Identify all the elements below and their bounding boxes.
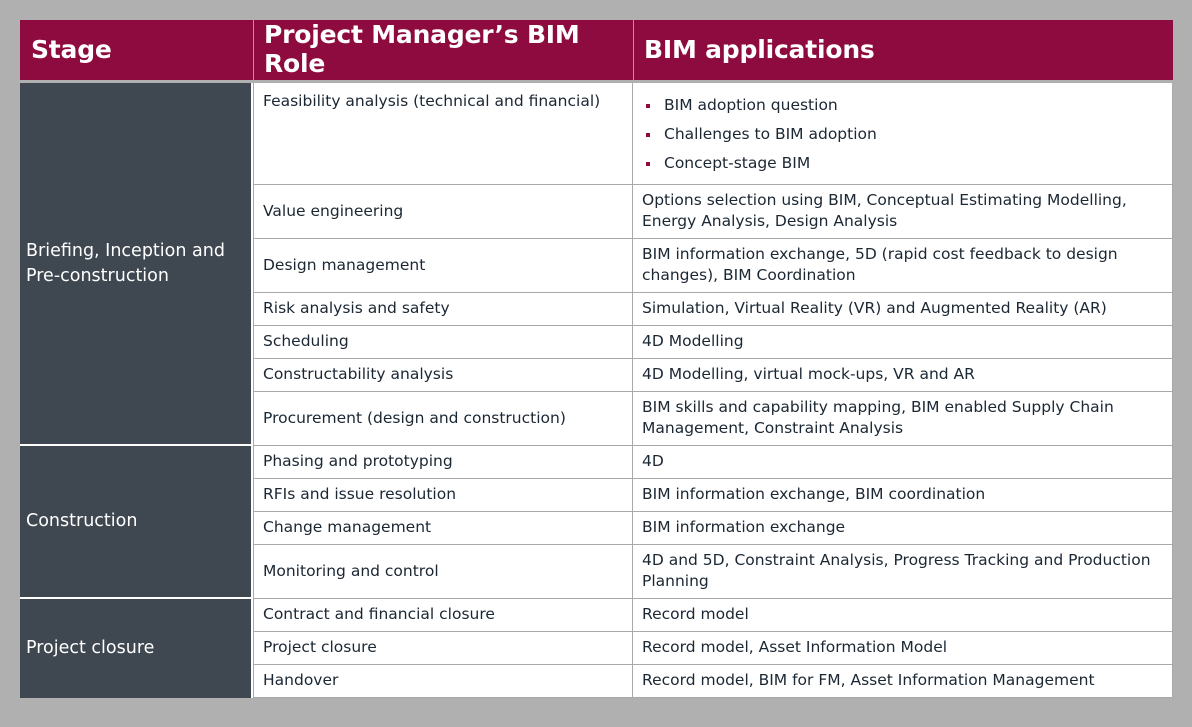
pm-bim-role-cell: Procurement (design and construction): [253, 392, 633, 446]
bim-applications-cell: Options selection using BIM, Conceptual …: [633, 185, 1173, 239]
pm-bim-role-cell: Feasibility analysis (technical and fina…: [253, 83, 633, 185]
list-item: BIM adoption question: [642, 91, 1164, 120]
table-body: Briefing, Inception and Pre-construction…: [20, 83, 1173, 698]
bim-applications-cell: Record model: [633, 599, 1173, 632]
bim-applications-cell: Record model, Asset Information Model: [633, 632, 1173, 665]
bim-applications-cell: BIM information exchange, BIM coordinati…: [633, 479, 1173, 512]
stage-label-cell: Project closure: [20, 599, 253, 698]
pm-bim-role-cell: Monitoring and control: [253, 545, 633, 599]
table-row: Project closureContract and financial cl…: [20, 599, 1173, 632]
bim-roles-table-container: Stage Project Manager’s BIM Role BIM app…: [20, 20, 1173, 697]
bim-applications-cell: BIM information exchange, 5D (rapid cost…: [633, 239, 1173, 293]
pm-bim-role-cell: Handover: [253, 665, 633, 698]
table-row: ConstructionPhasing and prototyping4D: [20, 446, 1173, 479]
pm-bim-role-cell: Value engineering: [253, 185, 633, 239]
bim-applications-cell: BIM skills and capability mapping, BIM e…: [633, 392, 1173, 446]
square-bullet-icon: [646, 133, 650, 137]
list-item-label: Challenges to BIM adoption: [664, 125, 877, 143]
pm-bim-role-cell: Project closure: [253, 632, 633, 665]
pm-bim-role-cell: Change management: [253, 512, 633, 545]
stage-label-cell: Construction: [20, 446, 253, 599]
bim-applications-cell: BIM information exchange: [633, 512, 1173, 545]
pm-bim-role-cell: Contract and financial closure: [253, 599, 633, 632]
bim-applications-bullet-list: BIM adoption questionChallenges to BIM a…: [642, 91, 1164, 178]
column-header-stage: Stage: [20, 20, 253, 80]
bim-applications-cell: 4D Modelling: [633, 326, 1173, 359]
pm-bim-role-cell: Risk analysis and safety: [253, 293, 633, 326]
table-row: Briefing, Inception and Pre-construction…: [20, 83, 1173, 185]
bim-roles-table: Stage Project Manager’s BIM Role BIM app…: [20, 20, 1173, 698]
page-root: Stage Project Manager’s BIM Role BIM app…: [0, 0, 1192, 727]
column-header-bim-applications: BIM applications: [633, 20, 1173, 80]
pm-bim-role-cell: Design management: [253, 239, 633, 293]
list-item: Concept-stage BIM: [642, 149, 1164, 178]
pm-bim-role-cell: Constructability analysis: [253, 359, 633, 392]
column-header-pm-bim-role: Project Manager’s BIM Role: [253, 20, 633, 80]
bim-applications-cell: 4D Modelling, virtual mock-ups, VR and A…: [633, 359, 1173, 392]
square-bullet-icon: [646, 162, 650, 166]
bim-applications-cell: Simulation, Virtual Reality (VR) and Aug…: [633, 293, 1173, 326]
list-item: Challenges to BIM adoption: [642, 120, 1164, 149]
pm-bim-role-cell: Scheduling: [253, 326, 633, 359]
square-bullet-icon: [646, 104, 650, 108]
header-row: Stage Project Manager’s BIM Role BIM app…: [20, 20, 1173, 80]
bim-applications-cell: 4D and 5D, Constraint Analysis, Progress…: [633, 545, 1173, 599]
bim-applications-cell: 4D: [633, 446, 1173, 479]
pm-bim-role-cell: Phasing and prototyping: [253, 446, 633, 479]
stage-label-cell: Briefing, Inception and Pre-construction: [20, 83, 253, 446]
bim-applications-cell: Record model, BIM for FM, Asset Informat…: [633, 665, 1173, 698]
list-item-label: Concept-stage BIM: [664, 154, 810, 172]
pm-bim-role-cell: RFIs and issue resolution: [253, 479, 633, 512]
bim-applications-cell: BIM adoption questionChallenges to BIM a…: [633, 83, 1173, 185]
table-header: Stage Project Manager’s BIM Role BIM app…: [20, 20, 1173, 83]
list-item-label: BIM adoption question: [664, 96, 838, 114]
